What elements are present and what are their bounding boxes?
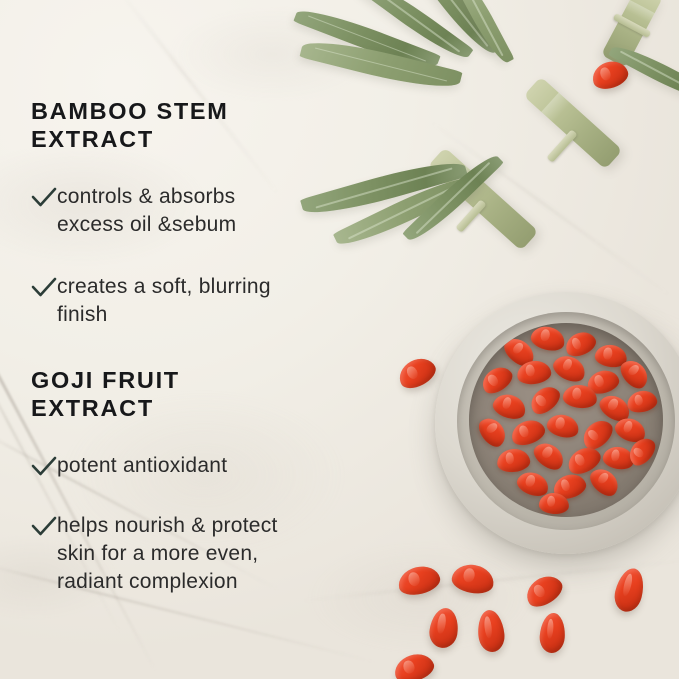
benefit-text: helps nourish & protect skin for a more … (57, 512, 278, 596)
bamboo-node-main (546, 129, 577, 163)
bowl-interior (469, 323, 663, 517)
benefit-item: controls & absorbs excess oil &sebum (31, 183, 236, 239)
bamboo-stalk-main-2 (523, 77, 622, 170)
ingredient-copy-panel: BAMBOO STEM EXTRACT controls & absorbs e… (0, 0, 440, 679)
benefit-text: controls & absorbs excess oil &sebum (57, 183, 236, 239)
benefit-item: helps nourish & protect skin for a more … (31, 512, 278, 596)
section-heading-goji: GOJI FRUIT EXTRACT (31, 366, 180, 422)
check-icon (31, 187, 57, 209)
benefit-item: potent antioxidant (31, 452, 227, 480)
product-ingredient-infographic: BAMBOO STEM EXTRACT controls & absorbs e… (0, 0, 679, 679)
check-icon (31, 456, 57, 478)
check-icon (31, 277, 57, 299)
goji-berry (550, 351, 590, 386)
goji-berry (496, 447, 531, 473)
goji-berry (529, 323, 568, 354)
goji-berry (530, 438, 569, 475)
bowl-rim (457, 312, 675, 530)
goji-berry (478, 362, 517, 398)
benefit-item: creates a soft, blurring finish (31, 273, 271, 329)
section-heading-bamboo: BAMBOO STEM EXTRACT (31, 97, 229, 153)
benefit-text: potent antioxidant (57, 452, 227, 480)
goji-berry (474, 413, 510, 451)
benefit-text: creates a soft, blurring finish (57, 273, 271, 329)
check-icon (31, 516, 57, 538)
goji-berry (526, 381, 565, 418)
goji-berry (625, 388, 659, 415)
goji-bowl (435, 292, 679, 554)
goji-berry (545, 411, 581, 440)
goji-berry (490, 390, 528, 422)
